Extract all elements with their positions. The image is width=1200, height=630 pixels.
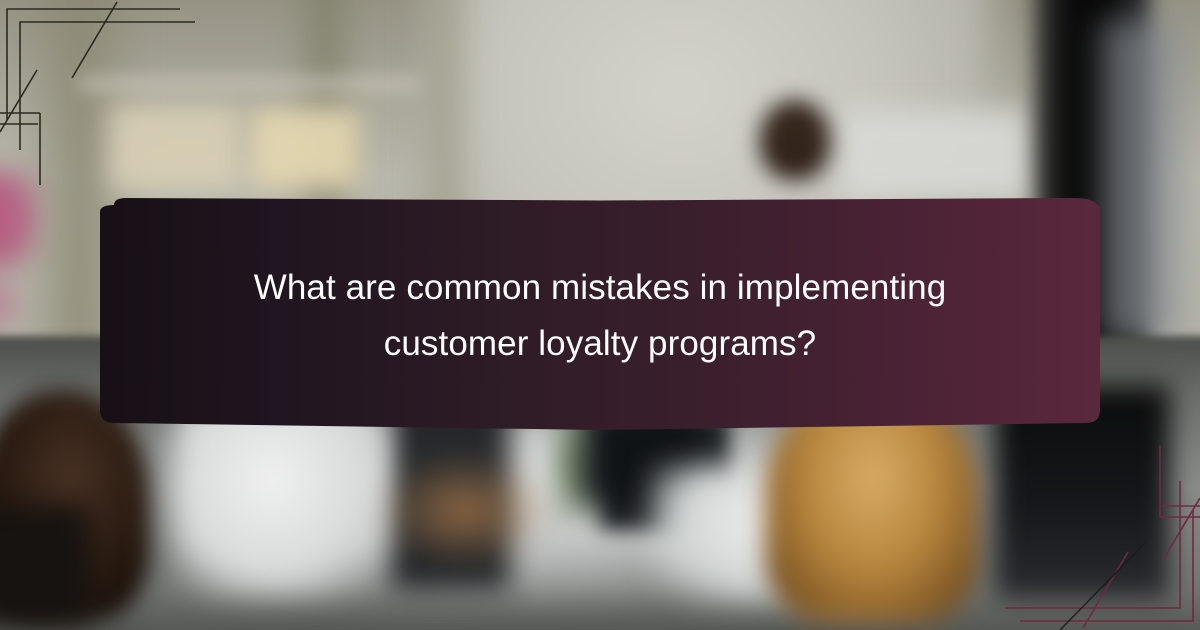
headline-line-2: customer loyalty programs?	[384, 316, 816, 372]
shelf-box-one	[110, 105, 240, 190]
monitor-right-edge	[1100, 20, 1180, 340]
shelf-box-two	[250, 108, 360, 188]
headline-line-1: What are common mistakes in implementing	[254, 260, 947, 316]
pink-object-lower	[0, 275, 25, 335]
share-card-canvas: What are common mistakes in implementing…	[0, 0, 1200, 630]
foreground-person-left-body	[0, 505, 90, 625]
headline-text-block: What are common mistakes in implementing…	[100, 198, 1100, 433]
headline-card: What are common mistakes in implementing…	[100, 198, 1100, 433]
whiteboard	[840, 110, 1030, 200]
hands	[370, 450, 560, 570]
shelf-rail	[80, 78, 420, 90]
standing-person-head	[760, 100, 830, 180]
pink-object	[0, 170, 35, 275]
